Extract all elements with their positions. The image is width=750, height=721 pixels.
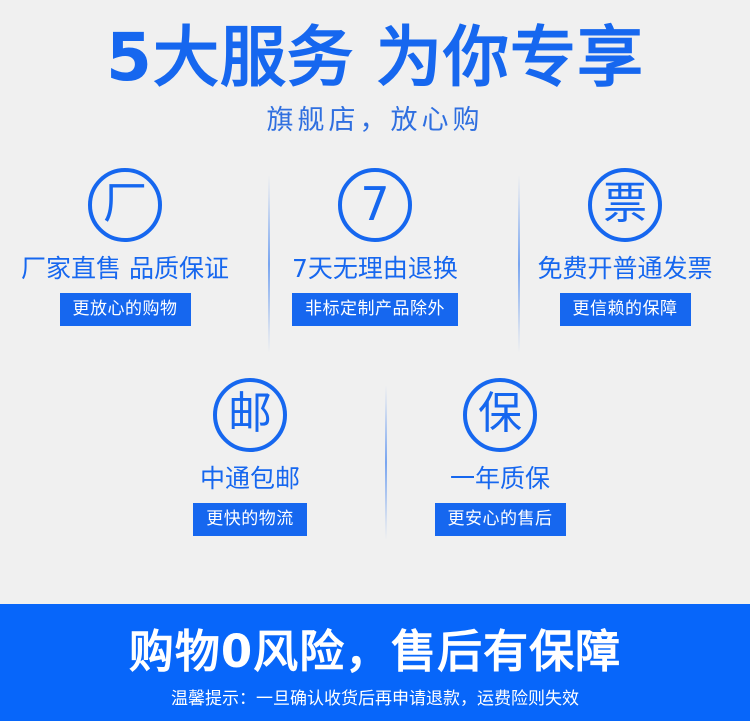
icon-glyph: 邮 bbox=[228, 392, 272, 436]
warranty-char-icon: 保 bbox=[463, 378, 537, 452]
header: 5大服务为你专享 旗舰店，放心购 bbox=[0, 0, 750, 160]
feature-row-bottom: 邮 中通包邮 更快的物流 保 一年质保 更安心的售后 bbox=[0, 378, 750, 536]
banner-note: 温馨提示：一旦确认收货后再申请退款，运费险则失效 bbox=[0, 688, 750, 710]
factory-char-icon: 厂 bbox=[88, 168, 162, 242]
page-subtitle: 旗舰店，放心购 bbox=[0, 104, 750, 138]
divider-vertical bbox=[268, 175, 270, 353]
feature-title: 免费开普通发票 bbox=[537, 254, 712, 284]
bottom-banner: 购物0风险，售后有保障 温馨提示：一旦确认收货后再申请退款，运费险则失效 bbox=[0, 604, 750, 721]
feature-title: 7天无理由退换 bbox=[292, 254, 458, 284]
feature-tag: 更信赖的保障 bbox=[560, 293, 691, 326]
headline-right: 为你专享 bbox=[376, 19, 644, 96]
feature-tag: 更快的物流 bbox=[193, 503, 307, 536]
icon-glyph: 厂 bbox=[103, 182, 147, 226]
feature-title: 厂家直售 品质保证 bbox=[21, 254, 229, 284]
feature-tag: 更放心的购物 bbox=[60, 293, 191, 326]
icon-glyph: 7 bbox=[360, 182, 389, 226]
invoice-char-icon: 票 bbox=[588, 168, 662, 242]
feature-title: 一年质保 bbox=[450, 464, 550, 494]
feature-item-invoice[interactable]: 票 免费开普通发票 更信赖的保障 bbox=[500, 168, 750, 326]
seven-days-icon: 7 bbox=[338, 168, 412, 242]
feature-tag: 更安心的售后 bbox=[435, 503, 566, 536]
mail-char-icon: 邮 bbox=[213, 378, 287, 452]
feature-title: 中通包邮 bbox=[200, 464, 300, 494]
divider-vertical bbox=[518, 175, 520, 353]
feature-item-warranty[interactable]: 保 一年质保 更安心的售后 bbox=[375, 378, 625, 536]
icon-glyph: 票 bbox=[603, 182, 647, 226]
service-promo-page: 5大服务为你专享 旗舰店，放心购 厂 厂家直售 品质保证 更放心的购物 7 7天… bbox=[0, 0, 750, 721]
icon-glyph: 保 bbox=[478, 392, 522, 436]
feature-item-factory[interactable]: 厂 厂家直售 品质保证 更放心的购物 bbox=[0, 168, 250, 326]
banner-title: 购物0风险，售后有保障 bbox=[0, 626, 750, 678]
feature-tag: 非标定制产品除外 bbox=[292, 293, 458, 326]
feature-item-shipping[interactable]: 邮 中通包邮 更快的物流 bbox=[125, 378, 375, 536]
divider-vertical bbox=[385, 385, 387, 540]
headline-left: 5大服务 bbox=[106, 19, 354, 96]
feature-item-returns[interactable]: 7 7天无理由退换 非标定制产品除外 bbox=[250, 168, 500, 326]
page-title: 5大服务为你专享 bbox=[0, 22, 750, 94]
feature-row-top: 厂 厂家直售 品质保证 更放心的购物 7 7天无理由退换 非标定制产品除外 票 … bbox=[0, 168, 750, 326]
